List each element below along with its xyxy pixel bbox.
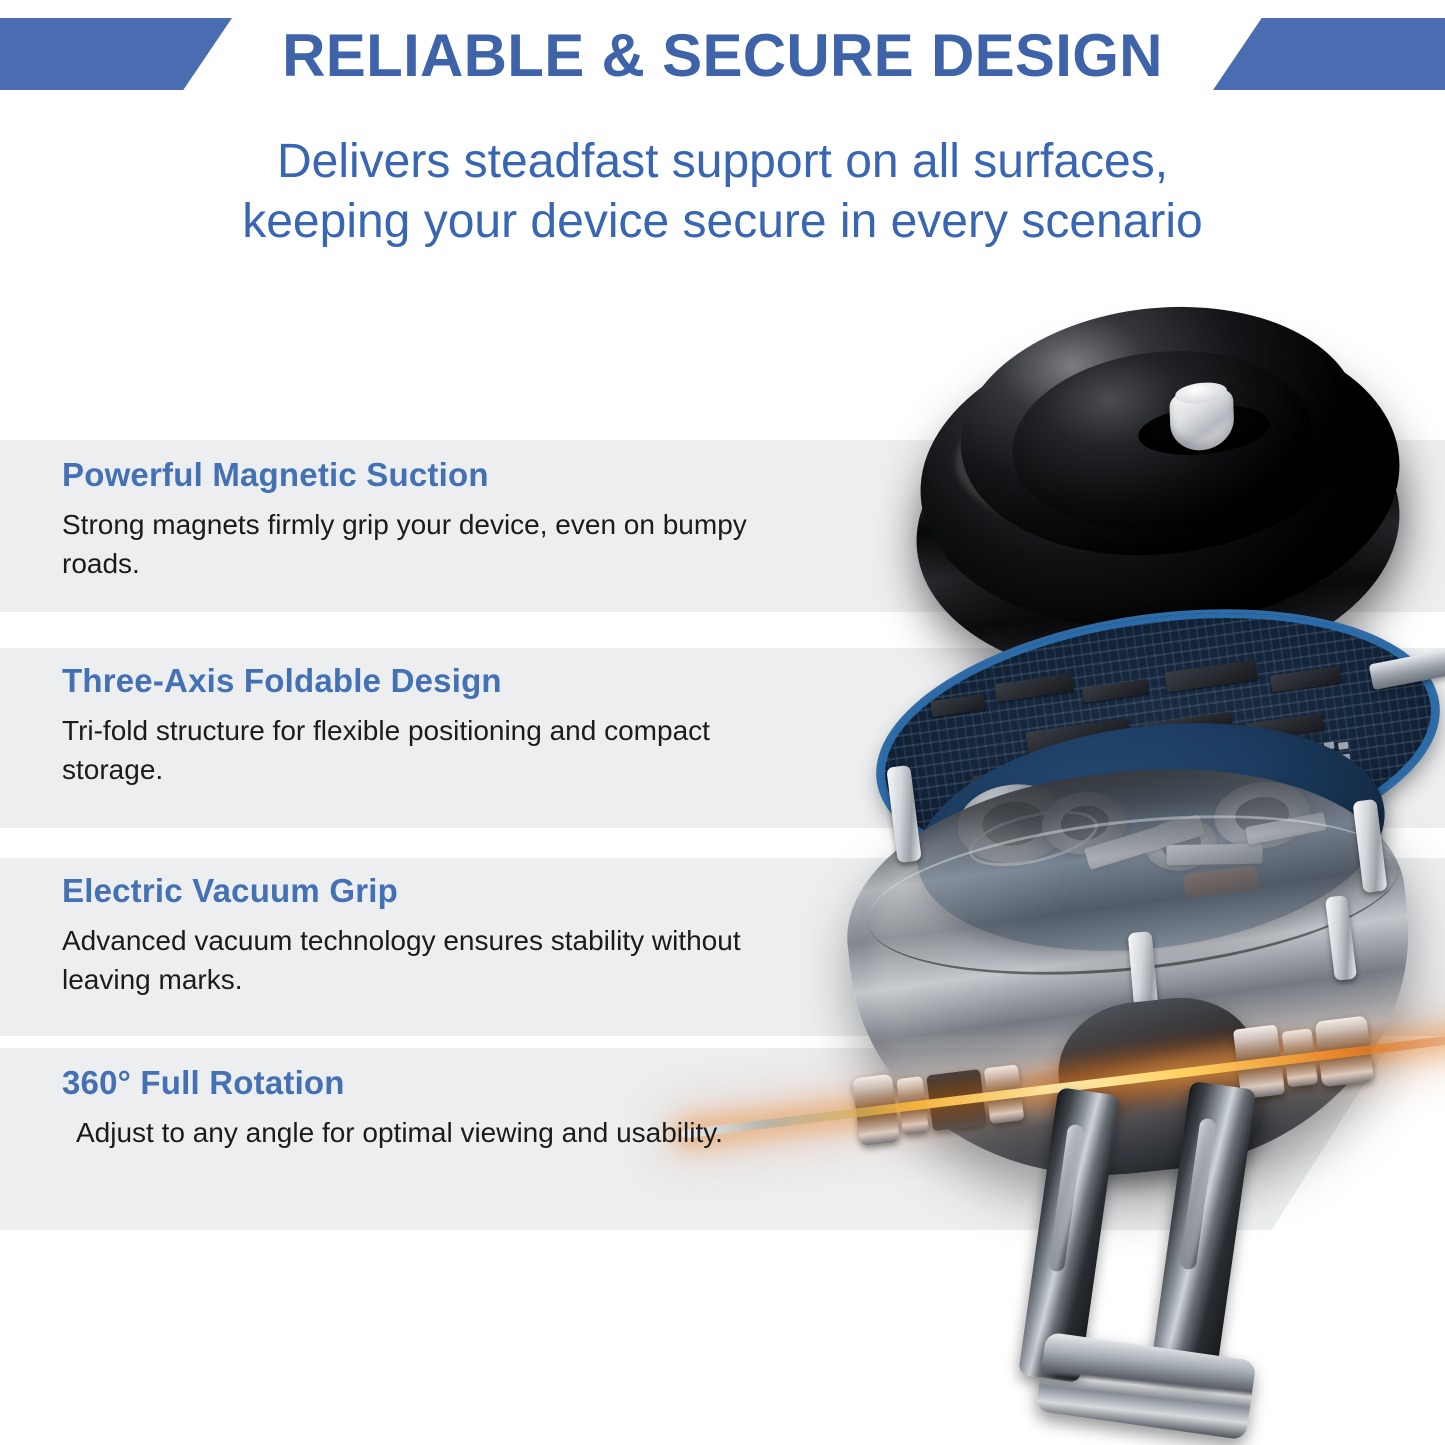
feature-item-magnetic-suction: Powerful Magnetic Suction Strong magnets… bbox=[62, 456, 802, 583]
bracket-base-hinge bbox=[1035, 1332, 1256, 1441]
feature-list: Powerful Magnetic Suction Strong magnets… bbox=[0, 0, 820, 1445]
feature-description: Advanced vacuum technology ensures stabi… bbox=[62, 922, 802, 999]
feature-item-vacuum-grip: Electric Vacuum Grip Advanced vacuum tec… bbox=[62, 872, 802, 999]
feature-title: Electric Vacuum Grip bbox=[62, 872, 802, 910]
feature-item-full-rotation: 360° Full Rotation Adjust to any angle f… bbox=[62, 1064, 802, 1153]
feature-title: 360° Full Rotation bbox=[62, 1064, 802, 1102]
feature-item-foldable-design: Three-Axis Foldable Design Tri-fold stru… bbox=[62, 662, 802, 789]
feature-title: Three-Axis Foldable Design bbox=[62, 662, 802, 700]
feature-description: Adjust to any angle for optimal viewing … bbox=[62, 1114, 802, 1153]
feature-description: Tri-fold structure for flexible position… bbox=[62, 712, 802, 789]
feature-description: Strong magnets firmly grip your device, … bbox=[62, 506, 802, 583]
feature-title: Powerful Magnetic Suction bbox=[62, 456, 802, 494]
